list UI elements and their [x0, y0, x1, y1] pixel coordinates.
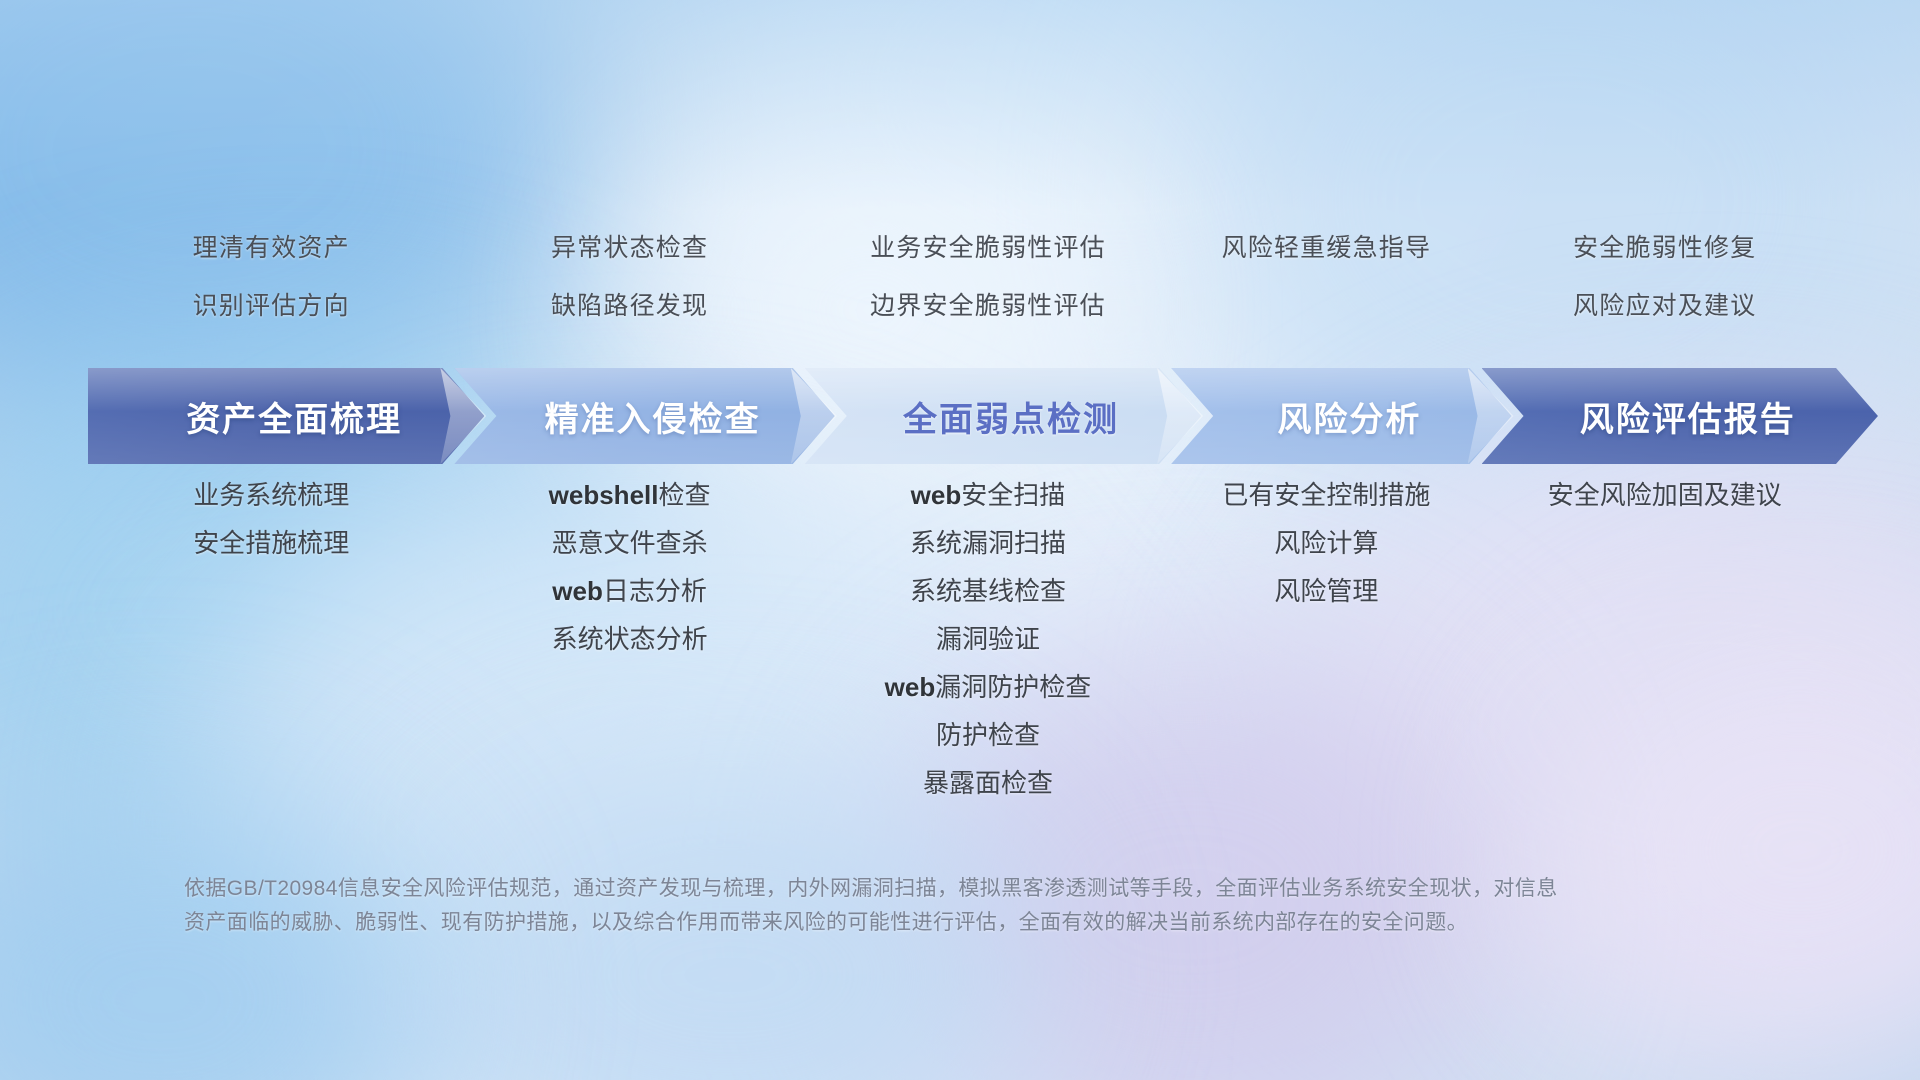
stage-detail-list: 已有安全控制措施风险计算风险管理 [1171, 482, 1481, 626]
stage-detail-item: web安全扫描 [911, 482, 1066, 508]
stage-chevron-4[interactable]: 风险分析 [1171, 368, 1511, 464]
stage-detail-item: 已有安全控制措施 [1222, 482, 1430, 508]
stage-top-note: 风险应对及建议 [1573, 286, 1756, 322]
stage-detail-list: web安全扫描系统漏洞扫描系统基线检查漏洞验证web漏洞防护检查防护检查暴露面检… [805, 482, 1171, 818]
footer-line-2: 资产面临的威胁、脆弱性、现有防护措施，以及综合作用而带来风险的可能性进行评估，全… [184, 906, 1784, 940]
stage-detail-item: 系统漏洞扫描 [910, 530, 1066, 556]
stage-title: 全面弱点检测 [887, 392, 1119, 441]
stage-top-note: 理清有效资产 [193, 228, 350, 264]
stage-top-note: 异常状态检查 [551, 228, 708, 264]
stage-title: 资产全面梳理 [170, 392, 402, 441]
stage-detail-list: webshell检查恶意文件查杀web日志分析系统状态分析 [454, 482, 804, 674]
stage-detail-item: 风险管理 [1274, 578, 1378, 604]
footer-description: 依据GB/T20984信息安全风险评估规范，通过资产发现与梳理，内外网漏洞扫描，… [184, 872, 1784, 940]
stage-detail-list: 安全风险加固及建议 [1482, 482, 1848, 530]
stage-title: 风险评估报告 [1564, 392, 1796, 441]
stage-title: 精准入侵检查 [529, 392, 761, 441]
stage-top-notes: 安全脆弱性修复风险应对及建议 [1482, 228, 1848, 322]
stage-detail-item: 防护检查 [936, 722, 1040, 748]
footer-line-1: 依据GB/T20984信息安全风险评估规范，通过资产发现与梳理，内外网漏洞扫描，… [184, 872, 1784, 906]
stage-top-notes-row: 理清有效资产识别评估方向异常状态检查缺陷路径发现业务安全脆弱性评估边界安全脆弱性… [88, 228, 1848, 322]
stage-top-note: 业务安全脆弱性评估 [870, 228, 1106, 264]
stage-chevron-5[interactable]: 风险评估报告 [1482, 368, 1878, 464]
stage-chevron-3[interactable]: 全面弱点检测 [805, 368, 1201, 464]
stage-detail-list: 业务系统梳理安全措施梳理 [88, 482, 454, 578]
stage-detail-item: 业务系统梳理 [193, 482, 349, 508]
stage-top-note: 安全脆弱性修复 [1573, 228, 1756, 264]
stage-chevron-1[interactable]: 资产全面梳理 [88, 368, 484, 464]
stage-title: 风险分析 [1261, 392, 1421, 441]
stage-detail-item: 风险计算 [1274, 530, 1378, 556]
stage-detail-item: 暴露面检查 [923, 770, 1053, 796]
stage-detail-item: 恶意文件查杀 [552, 530, 708, 556]
stage-detail-item: 安全风险加固及建议 [1548, 482, 1782, 508]
stage-top-notes: 异常状态检查缺陷路径发现 [454, 228, 804, 322]
stage-detail-item: 漏洞验证 [936, 626, 1040, 652]
stage-top-note: 风险轻重缓急指导 [1222, 228, 1432, 264]
stage-chevron-band: 资产全面梳理精准入侵检查全面弱点检测风险分析风险评估报告 [88, 368, 1848, 464]
stage-chevron-2[interactable]: 精准入侵检查 [454, 368, 834, 464]
stage-detail-item: 安全措施梳理 [193, 530, 349, 556]
stage-top-notes: 风险轻重缓急指导 [1171, 228, 1481, 322]
stage-detail-item: web日志分析 [552, 578, 707, 604]
stage-detail-lists-row: 业务系统梳理安全措施梳理webshell检查恶意文件查杀web日志分析系统状态分… [88, 482, 1848, 818]
stage-detail-item: web漏洞防护检查 [885, 674, 1092, 700]
stage-detail-item: 系统状态分析 [552, 626, 708, 652]
stage-detail-item: 系统基线检查 [910, 578, 1066, 604]
stage-top-note: 识别评估方向 [193, 286, 350, 322]
stage-top-notes: 业务安全脆弱性评估边界安全脆弱性评估 [805, 228, 1171, 322]
stage-top-notes: 理清有效资产识别评估方向 [88, 228, 454, 322]
stage-detail-item: webshell检查 [549, 482, 711, 508]
process-diagram: 理清有效资产识别评估方向异常状态检查缺陷路径发现业务安全脆弱性评估边界安全脆弱性… [0, 0, 1920, 1080]
stage-top-note: 缺陷路径发现 [551, 286, 708, 322]
stage-top-note: 边界安全脆弱性评估 [870, 286, 1106, 322]
